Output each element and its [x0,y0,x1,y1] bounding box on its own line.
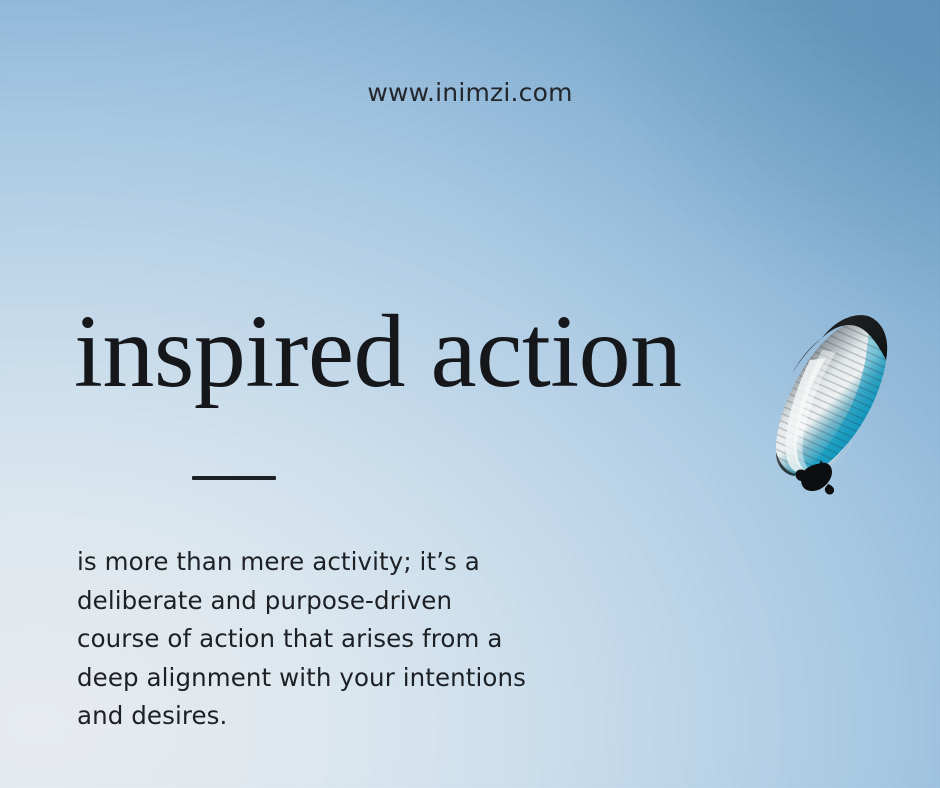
paraglider-icon [718,300,908,510]
divider-rule [192,476,276,480]
body-copy-line: and desires. [77,697,637,736]
body-copy-line: deliberate and purpose-driven [77,582,637,621]
body-copy-line: course of action that arises from a [77,620,637,659]
site-url: www.inimzi.com [0,78,940,107]
body-copy-line: is more than mere activity; it’s a [77,543,637,582]
body-copy-line: deep alignment with your intentions [77,659,637,698]
body-copy: is more than mere activity; it’s a delib… [77,543,637,736]
page-title: inspired action [74,300,682,404]
poster-canvas: www.inimzi.com inspired action is more t… [0,0,940,788]
